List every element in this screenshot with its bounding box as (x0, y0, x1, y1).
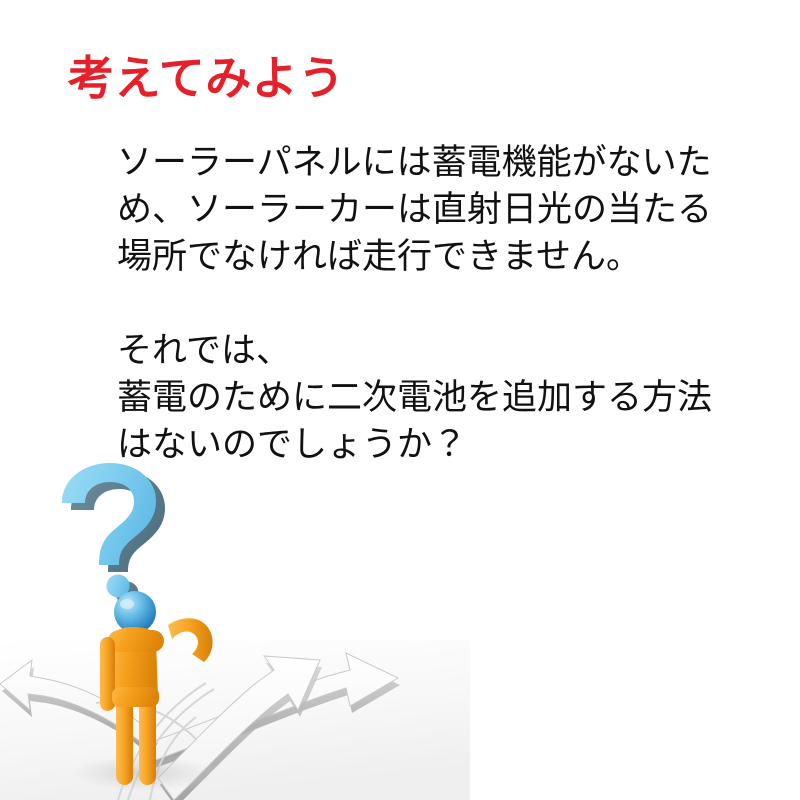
figure-head-highlight (120, 599, 134, 609)
figure-shoulders (108, 630, 164, 652)
paragraph-2: それでは、 蓄電のために二次電池を追加する方法 はないのでしょうか？ (117, 328, 742, 469)
page-title: 考えてみよう (68, 50, 345, 106)
question-mark-icon (62, 463, 165, 605)
figure-hips (112, 687, 159, 707)
paragraph-1: ソーラーパネルには蓄電機能がないた め、ソーラーカーは直射日光の当たる 場所でな… (117, 140, 742, 281)
paragraph-2-line-2: 蓄電のために二次電池を追加する方法 (117, 375, 742, 422)
paragraph-1-line-2: め、ソーラーカーは直射日光の当たる (117, 187, 742, 234)
body-copy: ソーラーパネルには蓄電機能がないた め、ソーラーカーは直射日光の当たる 場所でな… (117, 140, 742, 469)
paragraph-2-line-1: それでは、 (117, 328, 742, 375)
figure-head-sphere (114, 591, 156, 633)
paragraph-1-line-1: ソーラーパネルには蓄電機能がないた (117, 140, 742, 187)
paragraph-1-line-3: 場所でなければ走行できません。 (117, 234, 742, 281)
illustration-person-question-crossroads (0, 455, 470, 800)
slide-canvas: 考えてみよう ソーラーパネルには蓄電機能がないた め、ソーラーカーは直射日光の当… (0, 0, 800, 800)
